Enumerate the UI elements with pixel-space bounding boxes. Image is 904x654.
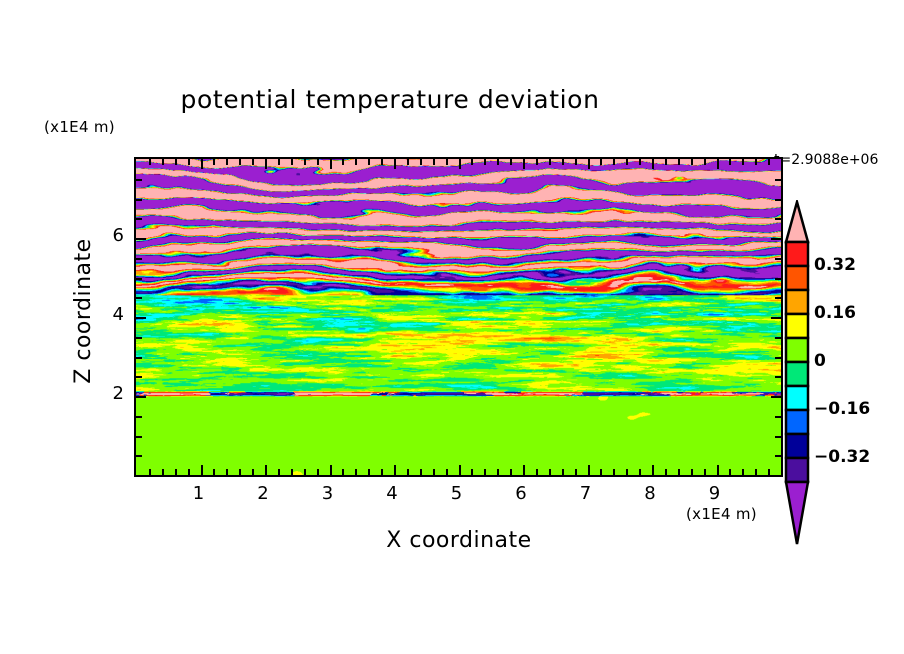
tick-mark [342,159,344,165]
tick-mark [510,469,512,475]
tick-mark [446,159,448,165]
tick-mark [639,469,641,475]
tick-mark [304,469,306,475]
tick-mark [226,159,228,165]
tick-mark [162,469,164,475]
tick-mark [226,469,228,475]
tick-mark [691,469,693,475]
tick-mark [136,317,146,319]
tick-mark [775,218,781,220]
tick-mark [588,159,590,169]
tick-mark [433,469,435,475]
tick-mark [626,159,628,165]
tick-mark [355,469,357,475]
tick-mark [368,159,370,165]
tick-mark [600,469,602,475]
tick-mark [136,396,146,398]
tick-mark [562,159,564,165]
tick-mark [775,337,781,339]
tick-mark [549,469,551,475]
tick-mark [575,469,577,475]
tick-mark [136,199,142,201]
tick-mark [729,159,731,165]
y-tick-label: 2 [84,383,124,404]
tick-mark [484,159,486,165]
x-tick-label: 9 [695,483,735,504]
tick-mark [691,159,693,165]
tick-mark [136,218,142,220]
tick-mark [459,465,461,475]
tick-mark [775,297,781,299]
x-tick-label: 4 [372,483,412,504]
colorbar-swatches [783,200,813,548]
tick-mark [471,159,473,165]
tick-mark [665,469,667,475]
y-tick-label: 4 [84,304,124,325]
tick-mark [265,159,267,169]
tick-mark [136,357,142,359]
tick-mark [355,159,357,165]
tick-mark [188,469,190,475]
tick-mark [536,159,538,165]
tick-mark [136,376,142,378]
y-tick-label: 6 [84,225,124,246]
tick-mark [575,159,577,165]
tick-mark [717,465,719,475]
tick-mark [742,469,744,475]
colorbar-tick-label: 0 [814,351,826,371]
tick-mark [291,159,293,165]
tick-mark [459,159,461,169]
tick-mark [775,416,781,418]
tick-mark [484,469,486,475]
tick-mark [755,159,757,165]
tick-mark [201,159,203,169]
tick-mark [136,337,142,339]
tick-mark [562,469,564,475]
tick-mark [407,469,409,475]
tick-mark [291,469,293,475]
tick-mark [149,469,151,475]
tick-mark [252,469,254,475]
colorbar-tick-label: 0.16 [814,303,856,323]
tick-mark [771,238,781,240]
tick-mark [588,465,590,475]
tick-mark [704,159,706,165]
page-title: potential temperature deviation [0,85,780,114]
tick-mark [523,465,525,475]
x-tick-label: 3 [308,483,348,504]
tick-mark [136,278,142,280]
tick-mark [317,469,319,475]
tick-mark [175,469,177,475]
x-tick-label: 2 [243,483,283,504]
tick-mark [549,159,551,165]
tick-mark [239,159,241,165]
tick-mark [368,469,370,475]
tick-mark [201,465,203,475]
tick-mark [162,159,164,165]
tick-mark [381,469,383,475]
tick-mark [678,159,680,165]
contour-plot-area [134,157,783,477]
tick-mark [278,469,280,475]
tick-mark [652,159,654,169]
tick-mark [768,159,770,165]
tick-mark [136,179,142,181]
tick-mark [704,469,706,475]
tick-mark [742,159,744,165]
tick-mark [446,469,448,475]
tick-mark [755,469,757,475]
tick-mark [265,465,267,475]
x-tick-label: 6 [501,483,541,504]
tick-mark [613,159,615,165]
tick-mark [775,199,781,201]
tick-mark [768,469,770,475]
tick-mark [600,159,602,165]
tick-mark [394,465,396,475]
tick-mark [471,469,473,475]
tick-mark [394,159,396,169]
tick-mark [420,469,422,475]
tick-mark [717,159,719,169]
tick-mark [136,455,142,457]
tick-mark [239,469,241,475]
tick-mark [665,159,667,165]
tick-mark [304,159,306,165]
tick-mark [626,469,628,475]
tick-mark [775,258,781,260]
timestamp-label: t=2.9088e+06 [774,152,878,168]
tick-mark [497,159,499,165]
x-axis-title: X coordinate [134,528,784,553]
tick-mark [317,159,319,165]
x-tick-label: 8 [630,483,670,504]
tick-mark [639,159,641,165]
tick-mark [136,238,146,240]
tick-mark [497,469,499,475]
tick-mark [213,159,215,165]
tick-mark [510,159,512,165]
tick-mark [613,469,615,475]
tick-mark [775,455,781,457]
tick-mark [771,396,781,398]
colorbar-tick-label: 0.32 [814,255,856,275]
tick-mark [407,159,409,165]
tick-mark [330,465,332,475]
y-axis-unit-label: (x1E4 m) [44,118,115,136]
tick-mark [420,159,422,165]
tick-mark [136,258,142,260]
tick-mark [536,469,538,475]
tick-mark [771,317,781,319]
tick-mark [188,159,190,165]
x-tick-label: 1 [179,483,219,504]
tick-mark [342,469,344,475]
tick-mark [523,159,525,169]
colorbar [783,200,813,522]
contour-field [136,159,781,475]
tick-mark [136,436,142,438]
tick-mark [678,469,680,475]
tick-mark [775,357,781,359]
tick-mark [433,159,435,165]
tick-mark [775,179,781,181]
tick-mark [149,159,151,165]
tick-mark [213,469,215,475]
x-tick-label: 5 [437,483,477,504]
tick-mark [136,297,142,299]
tick-mark [136,416,142,418]
tick-mark [775,278,781,280]
tick-mark [775,376,781,378]
colorbar-tick-label: −0.16 [814,399,870,419]
tick-mark [381,159,383,165]
colorbar-tick-label: −0.32 [814,447,870,467]
tick-mark [330,159,332,169]
tick-mark [652,465,654,475]
tick-mark [252,159,254,165]
contour-figure: potential temperature deviation (x1E4 m)… [0,0,904,654]
tick-mark [175,159,177,165]
tick-mark [775,436,781,438]
x-axis-unit-label: (x1E4 m) [686,505,757,523]
tick-mark [729,469,731,475]
tick-mark [278,159,280,165]
x-tick-label: 7 [566,483,606,504]
